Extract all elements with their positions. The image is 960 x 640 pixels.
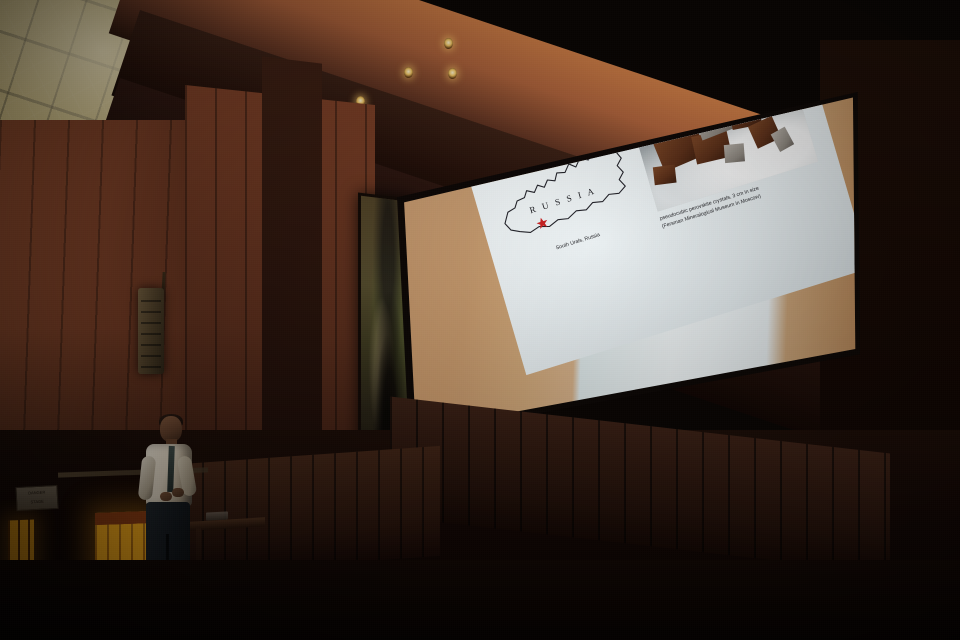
slide-hyperlink[interactable]: lead halide compounds, CsPbX3 (X=Cl, Br,… bbox=[596, 92, 699, 121]
screen-projected-content: CaTiO3 (perovskite) was first discovered… bbox=[390, 92, 860, 437]
russia-map-figure: R U S S I A South Urals, Russia bbox=[481, 132, 651, 267]
projection-screen: CaTiO3 (perovskite) was first discovered… bbox=[390, 92, 860, 437]
stage-warning-sign: DANGER STAGE bbox=[15, 485, 58, 511]
wall-speaker bbox=[138, 288, 164, 374]
sign-line-1: DANGER bbox=[17, 489, 57, 497]
map-country-label: R U S S I A bbox=[528, 186, 597, 216]
ceiling-spotlight bbox=[444, 38, 453, 49]
presenter-right-hand bbox=[172, 488, 184, 497]
ceiling-spotlight bbox=[448, 68, 457, 79]
slide-figures: R U S S I A South Urals, Russia bbox=[481, 92, 832, 279]
stage-wainscot-left bbox=[180, 446, 440, 574]
presentation-photo-scene: CaTiO3 (perovskite) was first discovered… bbox=[0, 0, 960, 640]
ceiling-spotlight bbox=[404, 67, 413, 78]
stage-table-object bbox=[206, 511, 228, 520]
slide: CaTiO3 (perovskite) was first discovered… bbox=[450, 92, 860, 375]
presenter-left-hand bbox=[160, 492, 172, 501]
crystal-photo-figure: pseudocubic perovskite crystals, 3 cm in… bbox=[634, 92, 824, 231]
stage-floor bbox=[0, 560, 960, 640]
sign-line-2: STAGE bbox=[17, 498, 57, 506]
